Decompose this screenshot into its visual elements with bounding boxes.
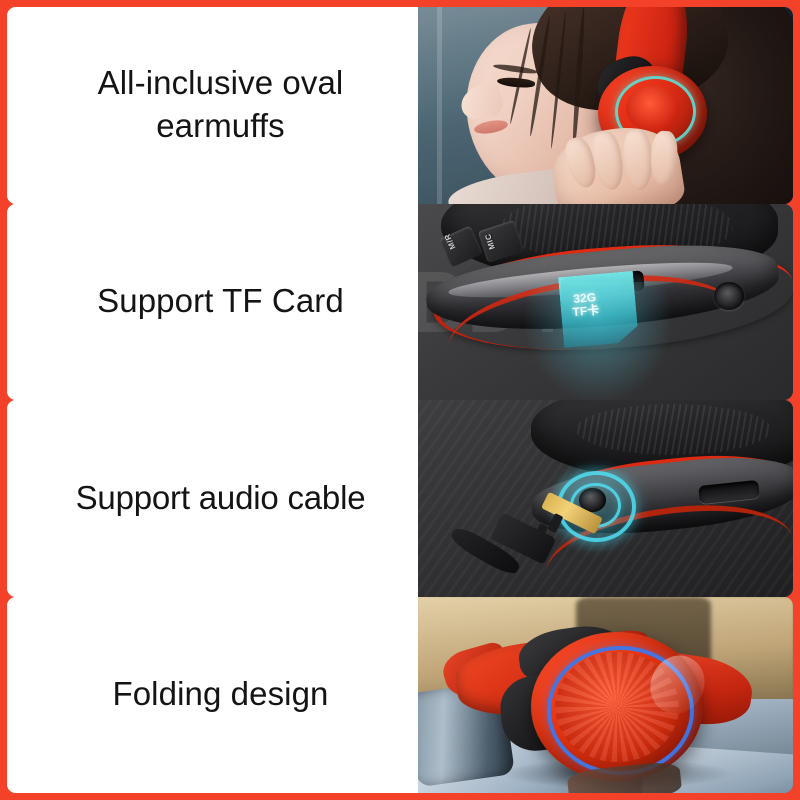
feature-label: All-inclusive oval earmuffs [37,62,404,148]
folded-headphones-photo [418,597,793,794]
feature-label: Folding design [37,673,404,716]
feature-label: Support audio cable [37,477,404,520]
feature-text-panel: All-inclusive oval earmuffs [7,7,418,204]
feature-row-folding-design: Folding design [0,597,800,800]
feature-text-panel: Support audio cable [7,400,418,597]
girl-wearing-red-headphones-photo [418,7,793,204]
feature-card: Support TF Card BDT M/R MIC [7,204,793,401]
earcup-center [626,86,679,131]
feature-card: Folding design [7,597,793,794]
feature-label-line-2: earmuffs [156,107,285,144]
product-feature-infographic: All-inclusive oval earmuffs [0,0,800,800]
tf-card-type: TF卡 [572,303,600,319]
feature-photo-panel [418,597,793,794]
feature-row-support-audio-cable: Support audio cable [0,400,800,597]
audio-cable-jack-photo [418,400,793,597]
feature-label: Support TF Card [37,280,404,323]
tf-card-label: 32G TF卡 [571,291,600,319]
tf-card-slot-photo: BDT M/R MIC 32G [418,204,793,401]
feature-photo-panel [418,7,793,204]
aux-port [714,282,744,310]
feature-text-panel: Folding design [7,597,418,794]
feature-text-panel: Support TF Card [7,204,418,401]
feature-row-all-inclusive-oval-earmuffs: All-inclusive oval earmuffs [0,0,800,204]
feature-photo-panel [418,400,793,597]
feature-card: All-inclusive oval earmuffs [7,7,793,204]
feature-photo-panel: BDT M/R MIC 32G [418,204,793,401]
cushion-texture [576,404,771,455]
feature-card: Support audio cable [7,400,793,597]
feature-label-line-1: All-inclusive oval [98,64,344,101]
feature-row-support-tf-card: Support TF Card BDT M/R MIC [0,204,800,401]
